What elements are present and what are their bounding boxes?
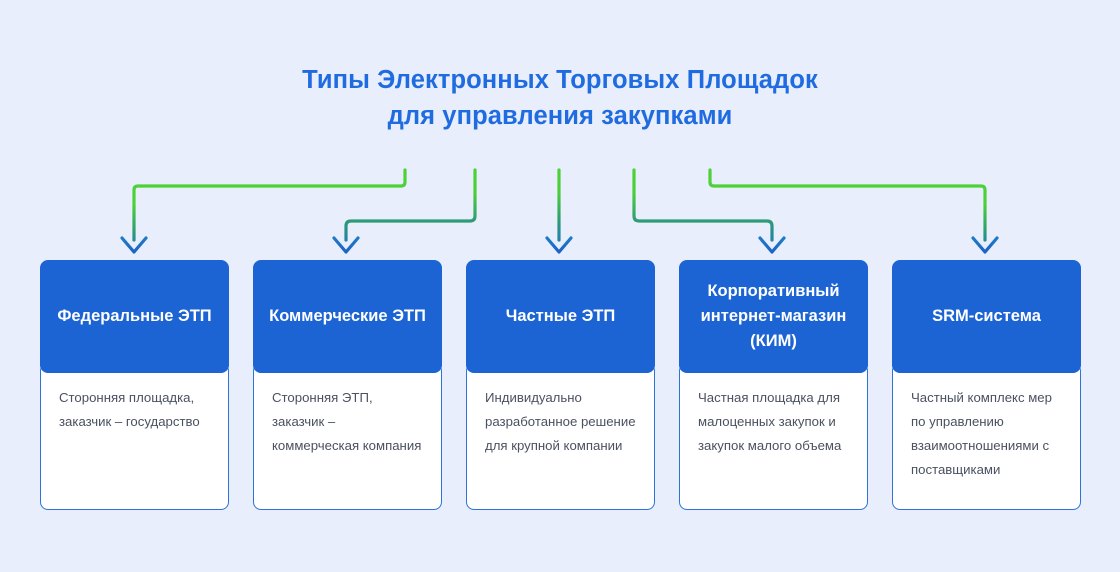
infographic-root: Типы Электронных Торговых Площадок для у… xyxy=(0,0,1120,572)
card-body: Частный комплекс мер по управлению взаим… xyxy=(892,363,1081,510)
connector-path-2 xyxy=(346,170,475,240)
card-description: Индивидуально разработанное решение для … xyxy=(485,386,636,458)
card-description: Частная площадка для малоценных закупок … xyxy=(698,386,849,458)
card-body: Сторонняя ЭТП, заказчик – коммерческая к… xyxy=(253,363,442,510)
card-srm-system[interactable]: SRM-система Частный комплекс мер по упра… xyxy=(892,260,1081,510)
card-description: Частный комплекс мер по управлению взаим… xyxy=(911,386,1062,482)
arrowhead-icon-1 xyxy=(122,238,146,252)
connector-path-4 xyxy=(634,170,772,240)
card-body: Частная площадка для малоценных закупок … xyxy=(679,363,868,510)
card-federal-etp[interactable]: Федеральные ЭТП Сторонняя площадка, зака… xyxy=(40,260,229,510)
card-header: Федеральные ЭТП xyxy=(40,260,229,373)
card-private-etp[interactable]: Частные ЭТП Индивидуально разработанное … xyxy=(466,260,655,510)
card-description: Сторонняя ЭТП, заказчик – коммерческая к… xyxy=(272,386,423,458)
arrowhead-icon-5 xyxy=(973,238,997,252)
arrowhead-icon-2 xyxy=(334,238,358,252)
connector-path-5 xyxy=(710,170,985,240)
card-header: Корпоративный интернет-магазин (КИМ) xyxy=(679,260,868,373)
connector-path-1 xyxy=(134,170,405,240)
card-body: Индивидуально разработанное решение для … xyxy=(466,363,655,510)
card-commercial-etp[interactable]: Коммерческие ЭТП Сторонняя ЭТП, заказчик… xyxy=(253,260,442,510)
card-corporate-internet-shop[interactable]: Корпоративный интернет-магазин (КИМ) Час… xyxy=(679,260,868,510)
arrowhead-icon-4 xyxy=(760,238,784,252)
card-description: Сторонняя площадка, заказчик – государст… xyxy=(59,386,210,434)
card-header: Частные ЭТП xyxy=(466,260,655,373)
page-title: Типы Электронных Торговых Площадок для у… xyxy=(0,62,1120,134)
card-header: SRM-система xyxy=(892,260,1081,373)
card-body: Сторонняя площадка, заказчик – государст… xyxy=(40,363,229,510)
arrowhead-icon-3 xyxy=(547,238,571,252)
page-title-line-1: Типы Электронных Торговых Площадок xyxy=(0,62,1120,98)
page-title-line-2: для управления закупками xyxy=(0,98,1120,134)
card-header: Коммерческие ЭТП xyxy=(253,260,442,373)
